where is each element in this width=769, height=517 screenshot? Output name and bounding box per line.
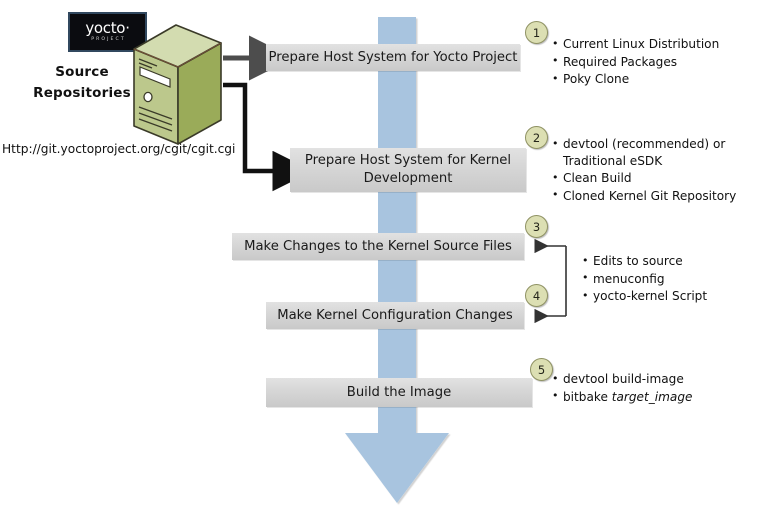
list-item: devtool (recommended) or Traditional eSD… (552, 136, 767, 169)
step-2-notes-list: devtool (recommended) or Traditional eSD… (552, 136, 767, 204)
yocto-logo-wordmark: yocto· (85, 21, 129, 36)
diagram-canvas: yocto· PROJECT Source Repositories Http:… (0, 0, 769, 517)
source-repositories-label-line1: Source (18, 62, 146, 83)
list-item: yocto-kernel Script (582, 288, 767, 305)
list-item: Poky Clone (552, 71, 767, 88)
step-box-prepare-host-yocto[interactable]: Prepare Host System for Yocto Project (266, 44, 520, 71)
arrow-to-step-2 (223, 85, 277, 171)
list-item: Clean Build (552, 170, 767, 187)
list-item: bitbake target_image (552, 389, 767, 406)
step-1-notes: Current Linux Distribution Required Pack… (552, 36, 767, 89)
steps-3-4-notes: Edits to source menuconfig yocto-kernel … (582, 253, 767, 306)
step-box-build-the-image[interactable]: Build the Image (266, 378, 532, 407)
source-repositories-label: Source Repositories (18, 62, 146, 104)
yocto-logo-subtitle: PROJECT (89, 38, 126, 43)
list-item: menuconfig (582, 271, 767, 288)
list-item: Required Packages (552, 54, 767, 71)
step-badge-2: 2 (525, 126, 548, 149)
steps-3-4-notes-list: Edits to source menuconfig yocto-kernel … (582, 253, 767, 305)
source-repositories-label-line2: Repositories (18, 83, 146, 104)
step-box-make-kernel-config-changes[interactable]: Make Kernel Configuration Changes (266, 302, 524, 329)
list-item: Cloned Kernel Git Repository (552, 188, 767, 205)
step-2-notes: devtool (recommended) or Traditional eSD… (552, 136, 767, 205)
step-badge-1: 1 (525, 21, 548, 44)
step-badge-5: 5 (530, 358, 553, 381)
list-item: Current Linux Distribution (552, 36, 767, 53)
step-badge-4: 4 (525, 284, 548, 307)
step-box-prepare-host-kernel[interactable]: Prepare Host System for Kernel Developme… (290, 148, 526, 192)
list-item: devtool build-image (552, 371, 767, 388)
step-badge-3: 3 (525, 215, 548, 238)
step-box-make-kernel-source-changes[interactable]: Make Changes to the Kernel Source Files (232, 233, 524, 260)
server-tower-icon (132, 23, 224, 148)
step-1-notes-list: Current Linux Distribution Required Pack… (552, 36, 767, 88)
step-5-notes-list: devtool build-image bitbake target_image (552, 371, 767, 405)
list-item: Edits to source (582, 253, 767, 270)
step-5-notes: devtool build-image bitbake target_image (552, 371, 767, 406)
